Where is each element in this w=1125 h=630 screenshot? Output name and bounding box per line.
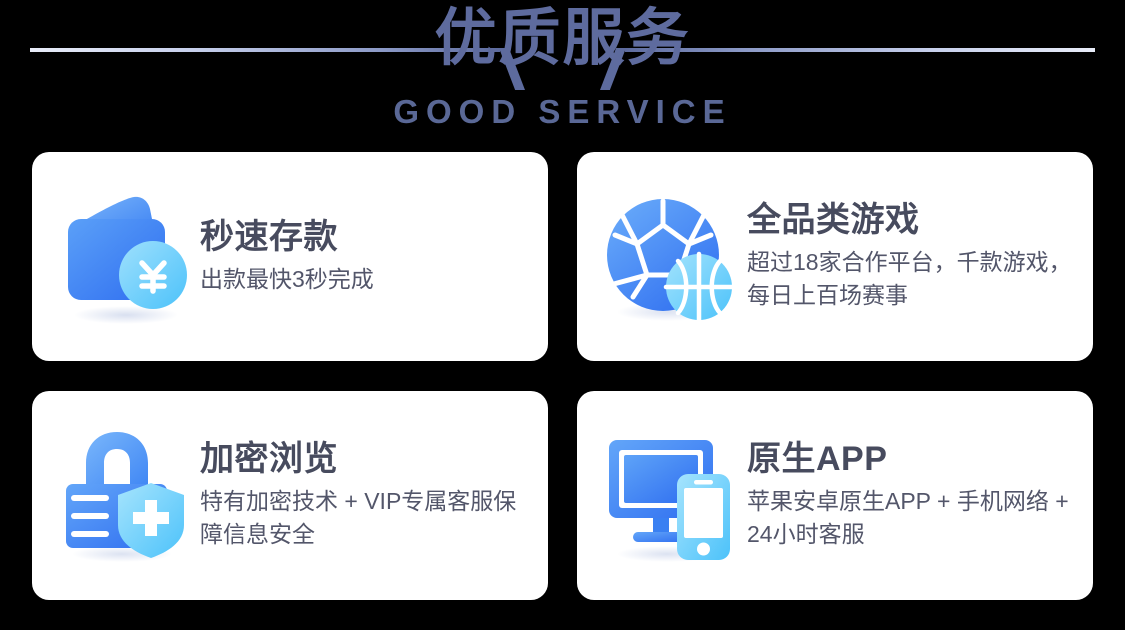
card-subtitle: 特有加密技术 + VIP专属客服保障信息安全 bbox=[200, 485, 530, 550]
card-text-group: 原生APP 苹果安卓原生APP + 手机网络 + 24小时客服 bbox=[737, 440, 1075, 550]
soccer-basketball-icon bbox=[605, 187, 737, 327]
promo-banner: 优质服务 GOOD SERVICE bbox=[0, 0, 1125, 630]
card-title: 加密浏览 bbox=[200, 440, 530, 479]
feature-card-deposit[interactable]: 秒速存款 出款最快3秒完成 bbox=[32, 152, 548, 361]
monitor-phone-icon bbox=[605, 426, 737, 566]
card-title: 秒速存款 bbox=[200, 218, 530, 257]
card-subtitle: 苹果安卓原生APP + 手机网络 + 24小时客服 bbox=[747, 485, 1075, 550]
card-text-group: 全品类游戏 超过18家合作平台，千款游戏，每日上百场赛事 bbox=[737, 201, 1075, 311]
card-subtitle: 出款最快3秒完成 bbox=[200, 263, 530, 296]
feature-card-native-app[interactable]: 原生APP 苹果安卓原生APP + 手机网络 + 24小时客服 bbox=[577, 391, 1093, 600]
card-subtitle: 超过18家合作平台，千款游戏，每日上百场赛事 bbox=[747, 246, 1075, 311]
card-text-group: 秒速存款 出款最快3秒完成 bbox=[192, 218, 530, 296]
page-title: 优质服务 bbox=[0, 8, 1125, 70]
feature-card-games[interactable]: 全品类游戏 超过18家合作平台，千款游戏，每日上百场赛事 bbox=[577, 152, 1093, 361]
card-title: 原生APP bbox=[747, 440, 1075, 479]
page-subtitle: GOOD SERVICE bbox=[0, 95, 1125, 128]
header: 优质服务 GOOD SERVICE bbox=[0, 0, 1125, 145]
feature-card-encryption[interactable]: 加密浏览 特有加密技术 + VIP专属客服保障信息安全 bbox=[32, 391, 548, 600]
card-title: 全品类游戏 bbox=[747, 201, 1075, 240]
lock-shield-icon bbox=[60, 426, 192, 566]
feature-card-grid: 秒速存款 出款最快3秒完成 bbox=[32, 152, 1093, 600]
wallet-yen-icon bbox=[60, 187, 192, 327]
card-text-group: 加密浏览 特有加密技术 + VIP专属客服保障信息安全 bbox=[192, 440, 530, 550]
